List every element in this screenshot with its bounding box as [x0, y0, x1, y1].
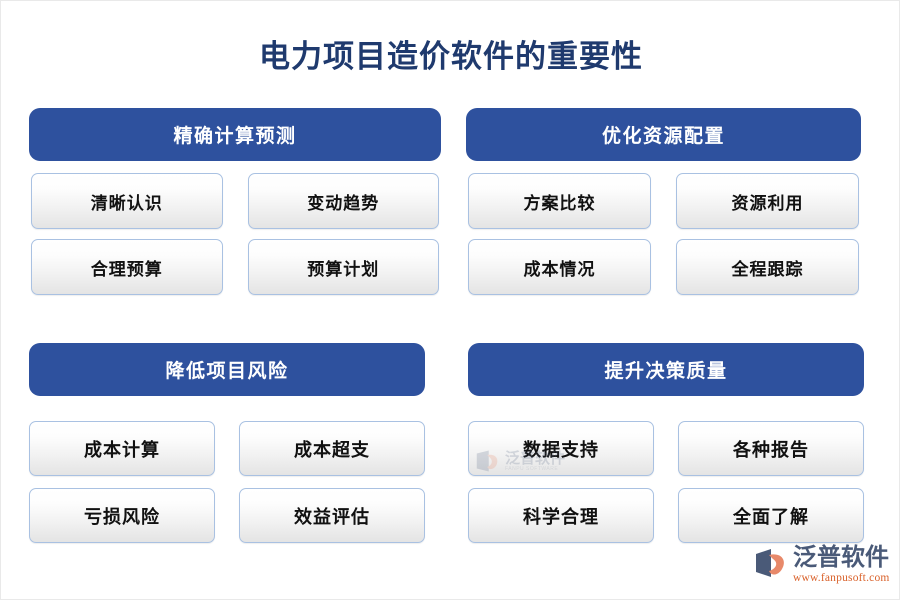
item-box[interactable]: 成本计算	[29, 421, 215, 476]
section-optimize-resource-allocation: 优化资源配置 方案比较 资源利用 成本情况 全程跟踪	[466, 108, 861, 295]
section-header: 提升决策质量	[468, 343, 864, 396]
item-box[interactable]: 效益评估	[239, 488, 425, 543]
item-box[interactable]: 预算计划	[248, 239, 440, 295]
brand-text: 泛普软件 www.fanpusoft.com	[793, 545, 890, 585]
brand-name: 泛普软件	[793, 545, 890, 571]
item-box[interactable]: 成本超支	[239, 421, 425, 476]
item-box[interactable]: 合理预算	[31, 239, 223, 295]
section-header: 优化资源配置	[466, 108, 861, 161]
page-title: 电力项目造价软件的重要性	[1, 37, 900, 77]
item-box[interactable]: 全程跟踪	[676, 239, 859, 295]
section-accurate-calculation-forecast: 精确计算预测 清晰认识 变动趋势 合理预算 预算计划	[29, 108, 441, 295]
section-items: 清晰认识 变动趋势 合理预算 预算计划	[29, 173, 441, 295]
item-box[interactable]: 全面了解	[678, 488, 864, 543]
section-items: 成本计算 成本超支 亏损风险 效益评估	[29, 421, 425, 543]
item-box[interactable]: 各种报告	[678, 421, 864, 476]
section-reduce-project-risk: 降低项目风险 成本计算 成本超支 亏损风险 效益评估	[29, 343, 425, 543]
section-improve-decision-quality: 提升决策质量 数据支持 各种报告 科学合理 全面了解	[468, 343, 864, 543]
item-box[interactable]: 成本情况	[468, 239, 651, 295]
item-box[interactable]: 清晰认识	[31, 173, 223, 229]
item-box[interactable]: 变动趋势	[248, 173, 440, 229]
section-items: 方案比较 资源利用 成本情况 全程跟踪	[466, 173, 861, 295]
section-header: 精确计算预测	[29, 108, 441, 161]
section-items: 数据支持 各种报告 科学合理 全面了解	[468, 421, 864, 543]
item-box[interactable]: 亏损风险	[29, 488, 215, 543]
item-box[interactable]: 方案比较	[468, 173, 651, 229]
fanpu-logo-icon	[754, 547, 788, 579]
brand-url: www.fanpusoft.com	[793, 572, 890, 585]
item-box[interactable]: 数据支持	[468, 421, 654, 476]
section-header: 降低项目风险	[29, 343, 425, 396]
brand-logo: 泛普软件 www.fanpusoft.com	[754, 545, 890, 585]
item-box[interactable]: 资源利用	[676, 173, 859, 229]
item-box[interactable]: 科学合理	[468, 488, 654, 543]
infographic-page: 电力项目造价软件的重要性 精确计算预测 清晰认识 变动趋势 合理预算 预算计划 …	[0, 0, 900, 600]
